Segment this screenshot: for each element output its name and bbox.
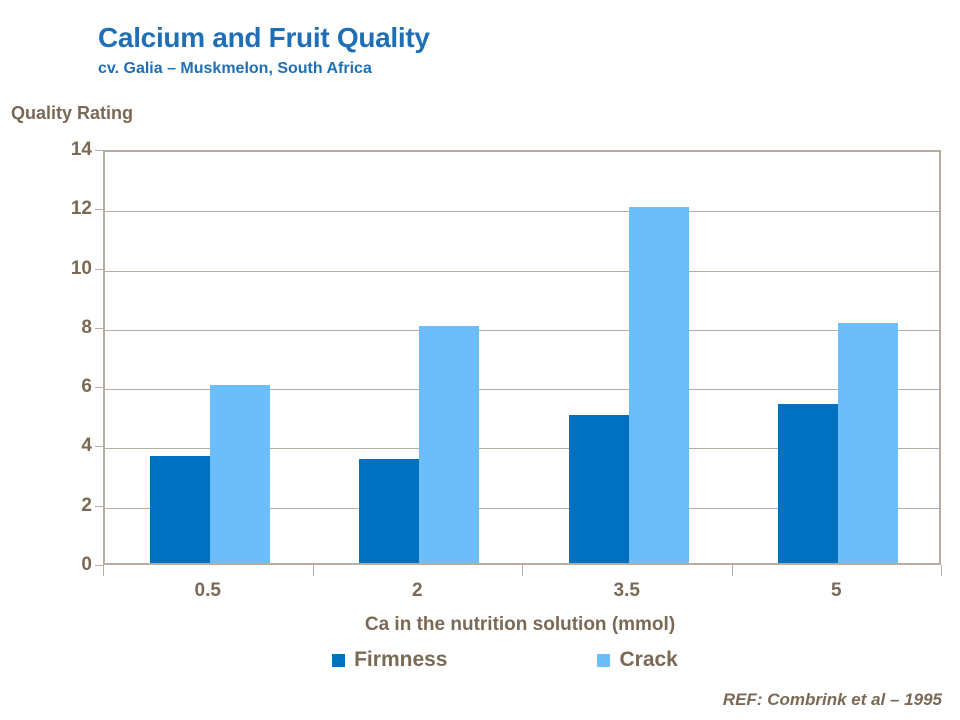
y-tick-mark (95, 506, 103, 507)
chart-subtitle: cv. Galia – Muskmelon, South Africa (98, 60, 372, 78)
y-tick-label: 2 (32, 495, 92, 517)
x-tick-label: 3.5 (614, 580, 640, 602)
y-tick-mark (95, 565, 103, 566)
y-tick-mark (95, 209, 103, 210)
x-tick-mark (732, 565, 733, 576)
y-tick-mark (95, 150, 103, 151)
y-axis-tick-labels: 02468101214 (20, 150, 92, 565)
chart-legend: FirmnessCrack (0, 648, 960, 672)
y-tick-label: 6 (32, 376, 92, 398)
y-tick-mark (95, 446, 103, 447)
x-tick-mark (941, 565, 942, 576)
legend-label: Firmness (354, 648, 447, 672)
bar-firmness-5[interactable] (778, 404, 838, 563)
y-tick-mark (95, 328, 103, 329)
y-tick-label: 0 (32, 554, 92, 576)
bar-firmness-2[interactable] (359, 459, 419, 563)
bar-firmness-0.5[interactable] (150, 456, 210, 563)
plot-area (103, 150, 941, 565)
bar-crack-5[interactable] (838, 323, 898, 563)
x-tick-label: 0.5 (195, 580, 221, 602)
y-tick-label: 14 (32, 139, 92, 161)
chart-title: Calcium and Fruit Quality (98, 22, 430, 54)
bar-group (315, 152, 525, 563)
y-tick-label: 10 (32, 258, 92, 280)
bar-firmness-3.5[interactable] (569, 415, 629, 563)
y-tick-mark (95, 269, 103, 270)
x-tick-label: 2 (412, 580, 423, 602)
bar-crack-2[interactable] (419, 326, 479, 563)
y-tick-label: 4 (32, 435, 92, 457)
y-axis-title: Quality Rating (11, 103, 133, 124)
bar-crack-0.5[interactable] (210, 385, 270, 563)
bar-group (734, 152, 944, 563)
y-tick-label: 12 (32, 198, 92, 220)
bar-group (105, 152, 315, 563)
legend-swatch-icon (597, 654, 610, 667)
x-axis-title: Ca in the nutrition solution (mmol) (0, 614, 960, 636)
x-tick-label: 5 (831, 580, 842, 602)
y-tick-label: 8 (32, 317, 92, 339)
x-tick-mark (313, 565, 314, 576)
x-tick-mark (103, 565, 104, 576)
bar-group (524, 152, 734, 563)
x-tick-mark (522, 565, 523, 576)
legend-label: Crack (619, 648, 677, 672)
legend-swatch-icon (332, 654, 345, 667)
legend-item-firmness[interactable]: Firmness (332, 648, 447, 672)
reference-note: REF: Combrink et al – 1995 (723, 690, 942, 710)
legend-item-crack[interactable]: Crack (597, 648, 677, 672)
bar-crack-3.5[interactable] (629, 207, 689, 563)
y-tick-mark (95, 387, 103, 388)
